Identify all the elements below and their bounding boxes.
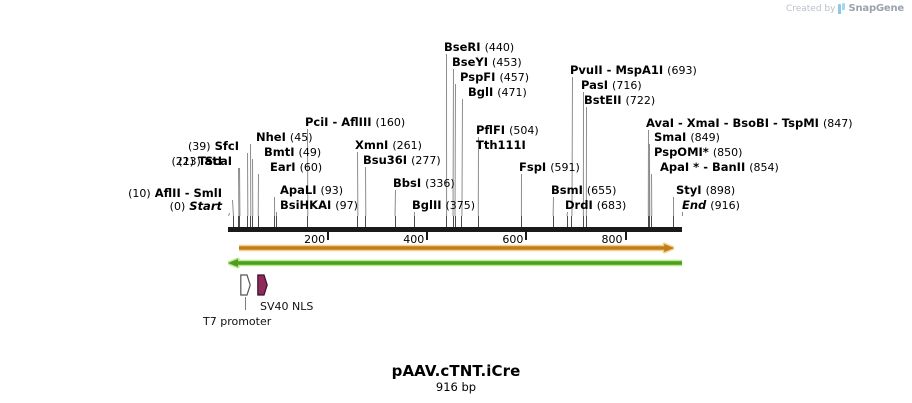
watermark-brand: SnapGene: [848, 3, 904, 14]
enzyme-position: (849): [690, 131, 720, 144]
enzyme-position: (693): [667, 64, 697, 77]
restriction-site-tick: [357, 216, 358, 227]
enzyme-name: EarI: [270, 160, 296, 174]
enzyme-label[interactable]: BglII (375): [412, 199, 475, 212]
enzyme-position: (277): [411, 154, 441, 167]
enzyme-label[interactable]: FspI (591): [519, 161, 580, 174]
enzyme-position: (160): [376, 116, 406, 129]
enzyme-label[interactable]: BseRI (440): [444, 41, 514, 54]
enzyme-name: BmtI: [264, 145, 295, 159]
restriction-site-tick: [571, 216, 572, 227]
restriction-site-tick: [239, 216, 240, 227]
restriction-site-tick: [247, 216, 248, 227]
restriction-site-tick: [583, 216, 584, 227]
enzyme-name: BseYI: [452, 55, 488, 69]
restriction-site-tick: [276, 216, 277, 227]
enzyme-name: XmnI: [355, 138, 388, 152]
enzyme-name: PspOMI*: [654, 145, 709, 159]
enzyme-name: AflII - SmlI: [155, 186, 222, 200]
enzyme-name: BglII: [412, 198, 442, 212]
enzyme-leader-line: [682, 212, 683, 216]
enzyme-label[interactable]: BstEII (722): [584, 94, 655, 107]
enzyme-label[interactable]: DrdI (683): [565, 199, 626, 212]
enzyme-leader-line: [239, 168, 240, 216]
restriction-site-tick: [567, 216, 568, 227]
feature-leader-line: [245, 297, 246, 310]
enzyme-name: PasI: [581, 78, 608, 92]
enzyme-position: (93): [321, 184, 344, 197]
enzyme-label[interactable]: BsiHKAI (97): [280, 199, 358, 212]
enzyme-name: PciI - AflIII: [305, 115, 372, 129]
enzyme-name: BglI: [468, 85, 493, 99]
watermark-prefix: Created by: [786, 4, 836, 14]
restriction-site-tick: [446, 216, 447, 227]
enzyme-name: BseRI: [444, 40, 481, 54]
enzyme-position: (45): [290, 131, 313, 144]
enzyme-label[interactable]: End (916): [682, 199, 740, 212]
enzyme-leader-line: [673, 197, 674, 216]
sequence-backbone: [228, 227, 682, 232]
restriction-site-tick: [586, 216, 587, 227]
enzyme-label[interactable]: PspFI (457): [460, 71, 529, 84]
enzyme-position: (457): [499, 71, 529, 84]
enzyme-label[interactable]: ApaI * - BanII (854): [660, 161, 779, 174]
enzyme-leader-line: [232, 200, 234, 216]
enzyme-name: End: [682, 198, 706, 212]
enzyme-label[interactable]: PspOMI* (850): [654, 146, 742, 159]
enzyme-position: (471): [497, 86, 527, 99]
enzyme-position: (722): [626, 94, 656, 107]
restriction-site-tick: [258, 216, 259, 227]
enzyme-position: (49): [299, 146, 322, 159]
enzyme-leader-line: [250, 144, 251, 216]
enzyme-position: (916): [710, 199, 740, 212]
enzyme-leader-line: [455, 84, 456, 216]
enzyme-leader-line: [395, 190, 396, 216]
enzyme-name: SfcI: [215, 139, 239, 153]
enzyme-position: (898): [706, 184, 736, 197]
forward-orf[interactable]: [239, 239, 674, 251]
enzyme-position: (440): [485, 41, 515, 54]
enzyme-label[interactable]: (0) Start: [170, 200, 222, 213]
enzyme-position: (716): [612, 79, 642, 92]
enzyme-label[interactable]: PasI (716): [581, 79, 642, 92]
enzyme-name: FspI: [519, 160, 546, 174]
plasmid-length: 916 bp: [0, 380, 912, 394]
enzyme-leader-line: [258, 174, 259, 216]
enzyme-label[interactable]: BglI (471): [468, 86, 527, 99]
enzyme-leader-line: [446, 54, 447, 216]
snapgene-logo-icon: [838, 3, 845, 14]
enzyme-label[interactable]: (39) SfcI: [188, 140, 239, 153]
restriction-site-tick: [395, 216, 396, 227]
enzyme-position: (375): [446, 199, 476, 212]
enzyme-name: ApaI * - BanII: [660, 160, 745, 174]
enzyme-label[interactable]: BsmI (655): [551, 184, 616, 197]
restriction-site-tick: [252, 216, 253, 227]
enzyme-name: BbsI: [393, 176, 421, 190]
plasmid-map-canvas: Created by SnapGene (10) AflII - SmlI(0)…: [0, 0, 912, 403]
enzyme-name: BsiHKAI: [280, 198, 331, 212]
enzyme-label[interactable]: BbsI (336): [393, 177, 455, 190]
enzyme-name: ScaI: [205, 154, 232, 168]
enzyme-label[interactable]: StyI (898): [676, 184, 735, 197]
restriction-site-tick: [274, 216, 275, 227]
enzyme-name: PvuII - MspA1I: [570, 63, 663, 77]
enzyme-name: BstEII: [584, 93, 622, 107]
snapgene-watermark: Created by SnapGene: [786, 3, 904, 14]
restriction-site-tick: [414, 216, 415, 227]
enzyme-label[interactable]: Tth111I: [476, 139, 526, 151]
enzyme-name: Start: [189, 199, 222, 213]
enzyme-label[interactable]: PflFI (504): [476, 124, 539, 137]
enzyme-position: (10): [128, 187, 151, 200]
restriction-site-tick: [307, 216, 308, 227]
enzyme-leader-line: [228, 213, 230, 216]
enzyme-position: (39): [188, 140, 211, 153]
restriction-site-tick: [250, 216, 251, 227]
enzyme-leader-line: [553, 197, 554, 216]
restriction-site-tick: [673, 216, 674, 227]
restriction-site-tick: [233, 216, 234, 227]
enzyme-leader-line: [252, 159, 253, 216]
enzyme-leader-line: [247, 153, 248, 216]
restriction-site-tick: [521, 216, 522, 227]
enzyme-position: (453): [492, 56, 522, 69]
enzyme-label[interactable]: PvuII - MspA1I (693): [570, 64, 697, 77]
restriction-site-tick: [553, 216, 554, 227]
enzyme-label[interactable]: SmaI (849): [654, 131, 720, 144]
enzyme-leader-line: [274, 197, 275, 216]
enzyme-position: (504): [509, 124, 539, 137]
enzyme-name: PflFI: [476, 123, 505, 137]
enzyme-position: (0): [170, 200, 186, 213]
enzyme-name: BsmI: [551, 183, 583, 197]
enzyme-position: (655): [587, 184, 617, 197]
restriction-site-tick: [651, 216, 652, 227]
feature-label[interactable]: T7 promoter: [203, 315, 271, 328]
enzyme-label[interactable]: EarI (60): [270, 161, 322, 174]
restriction-site-tick: [478, 216, 479, 227]
feature-label[interactable]: SV40 NLS: [260, 300, 313, 313]
enzyme-position: (261): [392, 139, 422, 152]
enzyme-position: (97): [335, 199, 358, 212]
enzyme-leader-line: [521, 174, 522, 216]
restriction-site-tick: [461, 216, 462, 227]
enzyme-label[interactable]: BseYI (453): [452, 56, 522, 69]
enzyme-label[interactable]: NheI (45): [256, 131, 313, 144]
enzyme-label[interactable]: PciI - AflIII (160): [305, 116, 405, 129]
restriction-site-tick: [649, 216, 650, 227]
enzyme-name: Bsu36I: [363, 153, 407, 167]
restriction-site-tick: [365, 216, 366, 227]
enzyme-position: (591): [550, 161, 580, 174]
enzyme-name: Tth111I: [476, 138, 526, 152]
reverse-orf[interactable]: [228, 254, 682, 266]
enzyme-label[interactable]: AvaI - XmaI - BsoBI - TspMI (847): [646, 117, 853, 130]
enzyme-name: AvaI - XmaI - BsoBI - TspMI: [646, 116, 819, 130]
restriction-site-tick: [453, 216, 454, 227]
enzyme-name: PspFI: [460, 70, 495, 84]
enzyme-name: StyI: [676, 183, 702, 197]
enzyme-label[interactable]: Bsu36I (277): [363, 154, 441, 167]
enzyme-position: (336): [425, 177, 455, 190]
feature-t7-promoter[interactable]: [240, 274, 251, 296]
enzyme-label[interactable]: XmnI (261): [355, 139, 422, 152]
enzyme-position: (854): [749, 161, 779, 174]
enzyme-label[interactable]: (23) ScaI: [178, 155, 232, 168]
feature-sv40-nls[interactable]: [257, 274, 268, 296]
plasmid-title: pAAV.cTNT.iCre: [0, 362, 912, 380]
enzyme-leader-line: [365, 167, 366, 216]
enzyme-name: DrdI: [565, 198, 593, 212]
enzyme-name: ApaLI: [280, 183, 317, 197]
enzyme-position: (847): [823, 117, 853, 130]
enzyme-position: (850): [713, 146, 743, 159]
enzyme-leader-line: [651, 174, 652, 216]
enzyme-label[interactable]: BmtI (49): [264, 146, 321, 159]
enzyme-position: (23): [178, 155, 201, 168]
enzyme-position: (683): [597, 199, 627, 212]
enzyme-name: NheI: [256, 130, 286, 144]
enzyme-name: SmaI: [654, 130, 686, 144]
restriction-site-tick: [455, 216, 456, 227]
enzyme-position: (60): [300, 161, 323, 174]
enzyme-label[interactable]: ApaLI (93): [280, 184, 343, 197]
